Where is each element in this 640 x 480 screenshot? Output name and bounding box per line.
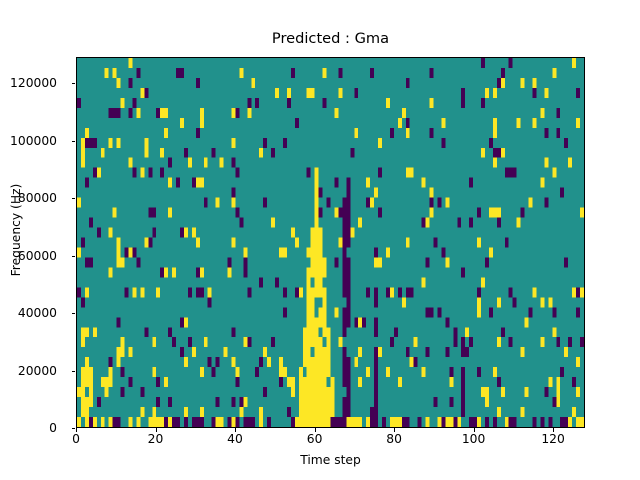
ytick-mark	[72, 256, 76, 257]
xtick-label-0: 0	[72, 432, 80, 446]
ytick-label-0: 0	[49, 421, 57, 435]
ytick-mark	[72, 198, 76, 199]
heatmap-plot-area	[76, 57, 585, 428]
ytick-mark	[72, 83, 76, 84]
xtick-label-60: 60	[307, 432, 323, 446]
ytick-mark	[72, 371, 76, 372]
matplotlib-figure: Predicted : Gma 0 20 40 60 80 100 120 0 …	[0, 0, 640, 480]
ytick-label-40000: 40000	[18, 306, 57, 320]
ytick-label-20000: 20000	[18, 364, 57, 378]
ytick-mark	[72, 313, 76, 314]
xtick-label-120: 120	[541, 432, 564, 446]
xtick-label-100: 100	[462, 432, 485, 446]
heatmap-canvas	[77, 58, 584, 427]
y-axis-label: Frequency (Hz)	[9, 120, 23, 340]
ytick-label-60000: 60000	[18, 249, 57, 263]
x-axis-label: Time step	[76, 453, 585, 467]
ytick-label-120000: 120000	[10, 76, 57, 90]
xtick-label-40: 40	[227, 432, 243, 446]
ytick-mark	[72, 428, 76, 429]
ytick-mark	[72, 141, 76, 142]
xtick-label-20: 20	[148, 432, 164, 446]
chart-title: Predicted : Gma	[76, 30, 585, 47]
xtick-label-80: 80	[386, 432, 402, 446]
ytick-label-80000: 80000	[18, 191, 57, 205]
